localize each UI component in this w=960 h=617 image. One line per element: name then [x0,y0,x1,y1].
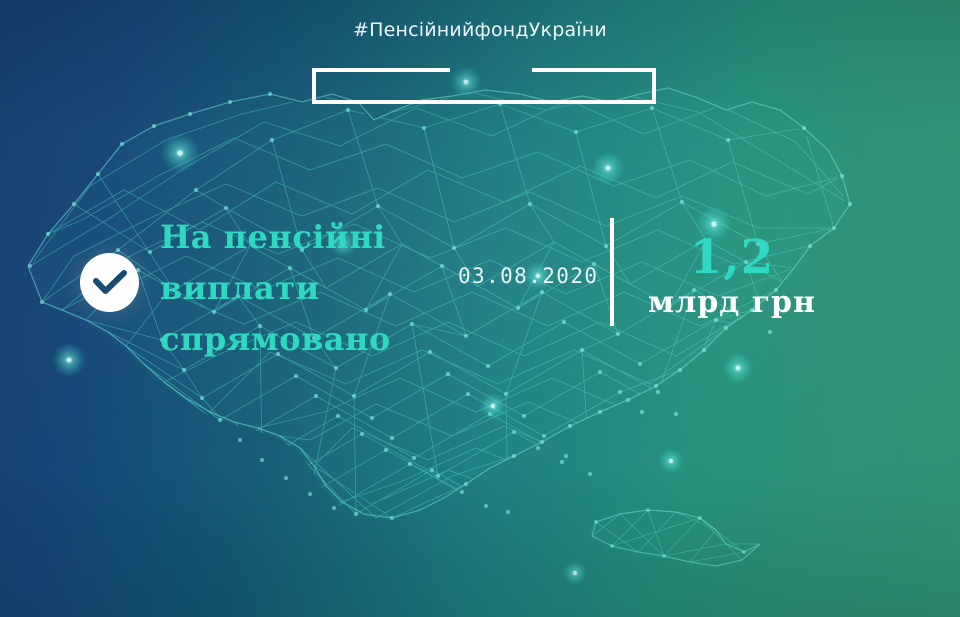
amount-value: 1,2 [622,232,842,284]
headline-line-3: спрямовано [160,314,490,365]
infographic-poster: #ПенсійнийфондУкраїни На пенсійні виплат… [0,0,960,617]
headline-line-1: На пенсійні [160,212,490,263]
frame-top-left-segment [312,68,450,72]
vertical-divider [610,218,614,326]
check-mark-icon [93,270,127,296]
check-circle-icon [80,253,139,312]
frame-right-segment [652,68,656,104]
headline-text: На пенсійні виплати спрямовано [160,212,490,365]
frame-left-segment [312,68,316,104]
decorative-frame [312,68,656,104]
hashtag-label: #ПенсійнийфондУкраїни [0,19,960,41]
headline-line-2: виплати [160,263,490,314]
frame-top-right-segment [532,68,656,72]
amount-unit: млрд грн [622,285,842,321]
amount-block: 1,2 млрд грн [622,232,842,321]
frame-bottom-segment [312,100,656,104]
date-label: 03.08.2020 [458,264,598,288]
